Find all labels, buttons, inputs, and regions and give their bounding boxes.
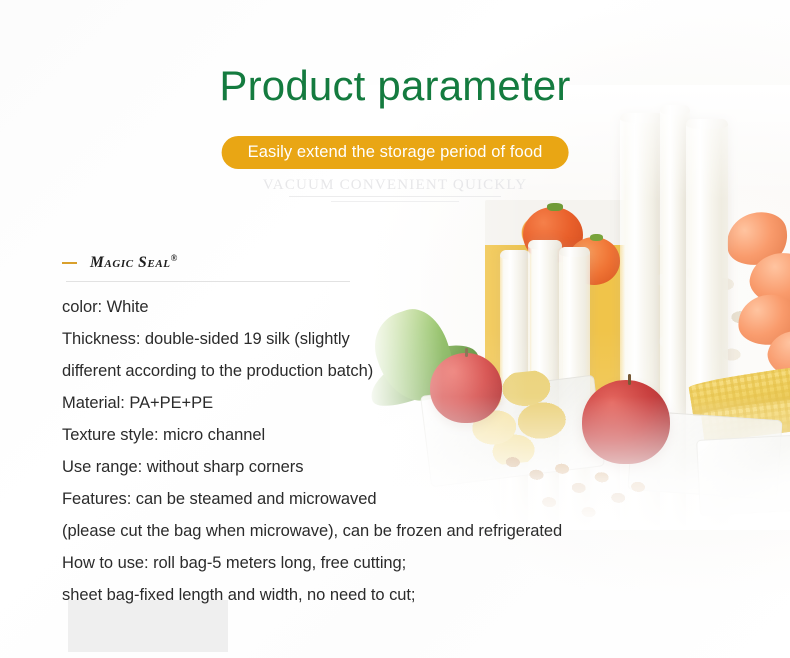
- apple-image: [582, 380, 670, 464]
- sealed-bag-image: [627, 410, 782, 500]
- corn-cob-image: [701, 395, 790, 442]
- spec-line: Use range: without sharp corners: [62, 451, 562, 483]
- brand-name: Magic Seal®: [90, 253, 178, 272]
- shrimp-image: [721, 206, 790, 271]
- spec-line: How to use: roll bag-5 meters long, free…: [62, 547, 562, 579]
- spec-line: Texture style: micro channel: [62, 419, 562, 451]
- trademark-icon: ®: [171, 253, 178, 263]
- brand-row: Magic Seal®: [62, 252, 562, 274]
- spec-line: sheet bag-fixed length and width, no nee…: [62, 579, 562, 611]
- page-subtitle: VACUUM CONVENIENT QUICKLY: [0, 177, 790, 194]
- divider-line: [331, 201, 459, 202]
- sealed-bag-image: [696, 434, 790, 516]
- spec-list: color: White Thickness: double-sided 19 …: [62, 291, 562, 611]
- corn-cob-image: [688, 363, 790, 419]
- shrimp-image: [747, 249, 790, 312]
- specification-block: Magic Seal® color: White Thickness: doub…: [62, 252, 562, 611]
- tagline-badge: Easily extend the storage period of food: [222, 136, 569, 169]
- white-beans-image: [648, 260, 758, 370]
- spec-line: Features: can be steamed and microwaved: [62, 483, 562, 515]
- divider-line: [289, 196, 501, 197]
- shrimp-image: [736, 292, 790, 348]
- tomato-image: [568, 237, 620, 285]
- brand-name-text: Magic Seal: [90, 255, 171, 272]
- spec-line: Thickness: double-sided 19 silk (slightl…: [62, 323, 562, 355]
- spec-line: Material: PA+PE+PE: [62, 387, 562, 419]
- spec-line: color: White: [62, 291, 562, 323]
- subtitle-decoration: [0, 196, 790, 202]
- spec-line: different according to the production ba…: [62, 355, 562, 387]
- page-title: Product parameter: [0, 64, 790, 108]
- spec-line: (please cut the bag when microwave), can…: [62, 515, 562, 547]
- shrimp-image: [763, 325, 790, 386]
- product-parameter-page: Product parameter Easily extend the stor…: [0, 0, 790, 658]
- brand-divider: [66, 281, 350, 282]
- vacuum-bag-roll: [620, 113, 664, 530]
- vacuum-bag-roll: [559, 247, 590, 530]
- vacuum-bag-roll: [660, 105, 690, 530]
- brand-dash-icon: [62, 262, 77, 264]
